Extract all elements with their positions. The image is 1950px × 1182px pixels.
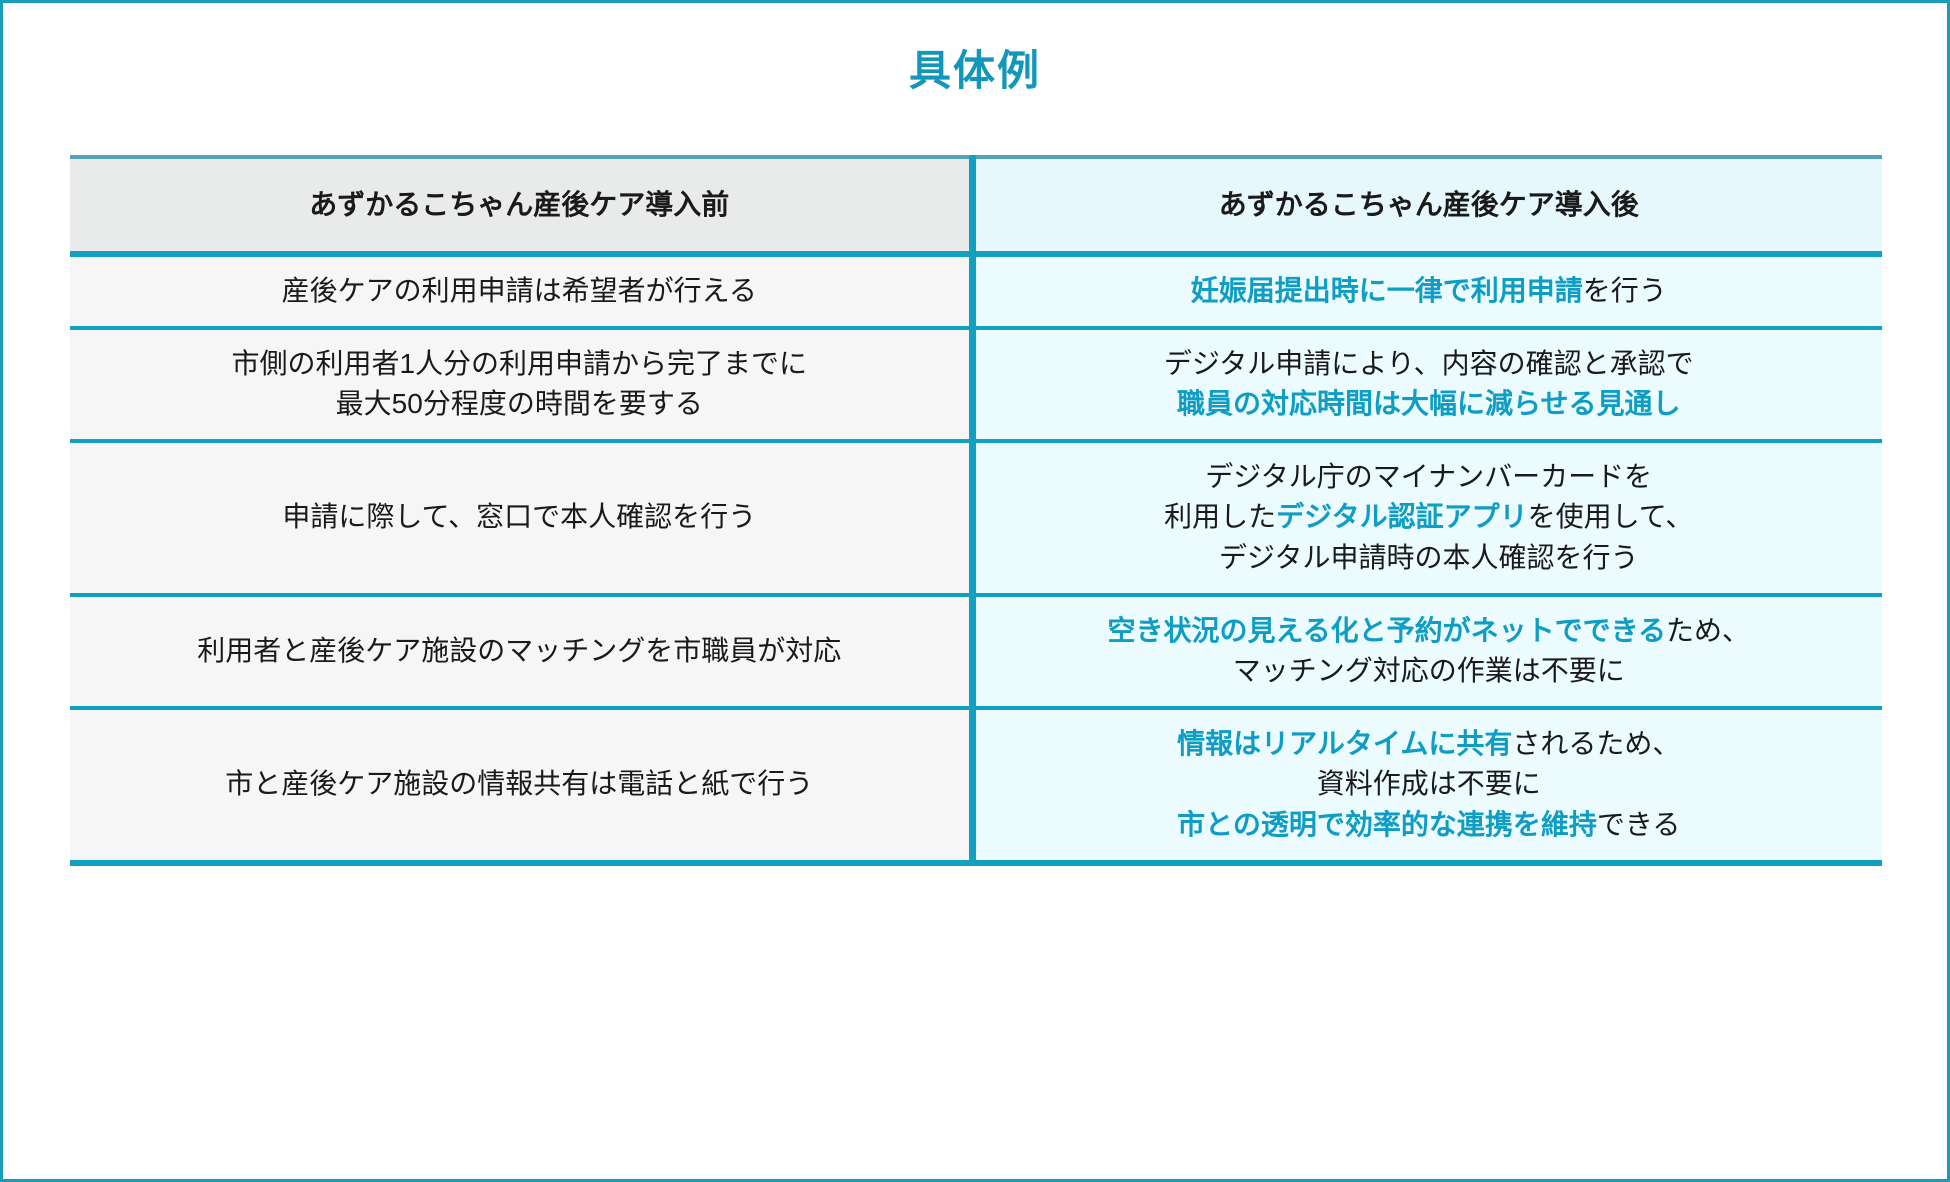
- table-row: 市と産後ケア施設の情報共有は電話と紙で行う情報はリアルタイムに共有されるため、資…: [70, 708, 1882, 863]
- plain-text: されるため、: [1512, 728, 1680, 759]
- cell-after: 空き状況の見える化と予約がネットでできるため、マッチング対応の作業は不要に: [972, 595, 1882, 708]
- highlighted-text: 職員の対応時間は大幅に減らせる見通し: [1177, 388, 1680, 419]
- plain-text: ため、: [1666, 615, 1750, 646]
- slide-border-top: [0, 0, 1950, 3]
- cell-after: 妊娠届提出時に一律で利用申請を行う: [972, 254, 1882, 328]
- plain-text: デジタル申請により、内容の確認と承認で: [1164, 348, 1694, 379]
- cell-line: 資料作成は不要に: [994, 764, 1865, 805]
- cell-line: 空き状況の見える化と予約がネットでできるため、: [994, 611, 1865, 652]
- cell-line: 市と産後ケア施設の情報共有は電話と紙で行う: [88, 764, 951, 805]
- plain-text: を行う: [1583, 275, 1667, 306]
- plain-text: デジタル庁のマイナンバーカードを: [1205, 461, 1652, 492]
- cell-before: 市と産後ケア施設の情報共有は電話と紙で行う: [70, 708, 972, 863]
- page-title: 具体例: [0, 48, 1950, 94]
- plain-text: できる: [1597, 809, 1680, 840]
- table-header-row: あずかるこちゃん産後ケア導入前 あずかるこちゃん産後ケア導入後: [70, 157, 1882, 254]
- cell-line: 市側の利用者1人分の利用申請から完了までに: [88, 344, 951, 385]
- cell-before: 産後ケアの利用申請は希望者が行える: [70, 254, 972, 328]
- highlighted-text: 情報はリアルタイムに共有: [1177, 728, 1512, 759]
- slide-border-left: [0, 0, 3, 1182]
- cell-line: 産後ケアの利用申請は希望者が行える: [88, 271, 951, 312]
- cell-line: 最大50分程度の時間を要する: [88, 384, 951, 425]
- highlighted-text: デジタル認証アプリ: [1276, 501, 1527, 532]
- table-header: あずかるこちゃん産後ケア導入前 あずかるこちゃん産後ケア導入後: [70, 157, 1882, 254]
- cell-line: 市との透明で効率的な連携を維持できる: [994, 805, 1865, 846]
- comparison-table: あずかるこちゃん産後ケア導入前 あずかるこちゃん産後ケア導入後 産後ケアの利用申…: [70, 155, 1882, 866]
- cell-line: デジタル申請時の本人確認を行う: [994, 538, 1865, 579]
- cell-line: デジタル申請により、内容の確認と承認で: [994, 344, 1865, 385]
- cell-line: 申請に際して、窓口で本人確認を行う: [88, 497, 951, 538]
- table-row: 申請に際して、窓口で本人確認を行うデジタル庁のマイナンバーカードを利用したデジタ…: [70, 441, 1882, 595]
- highlighted-text: 妊娠届提出時に一律で利用申請: [1191, 275, 1583, 306]
- table-row: 市側の利用者1人分の利用申請から完了までに最大50分程度の時間を要するデジタル申…: [70, 328, 1882, 441]
- comparison-table-container: あずかるこちゃん産後ケア導入前 あずかるこちゃん産後ケア導入後 産後ケアの利用申…: [70, 155, 1882, 866]
- column-header-after: あずかるこちゃん産後ケア導入後: [972, 157, 1882, 254]
- cell-before: 市側の利用者1人分の利用申請から完了までに最大50分程度の時間を要する: [70, 328, 972, 441]
- plain-text: 資料作成は不要に: [1317, 768, 1541, 799]
- highlighted-text: 空き状況の見える化と予約がネットでできる: [1107, 615, 1666, 646]
- cell-before: 利用者と産後ケア施設のマッチングを市職員が対応: [70, 595, 972, 708]
- cell-line: 情報はリアルタイムに共有されるため、: [994, 724, 1865, 765]
- column-header-before: あずかるこちゃん産後ケア導入前: [70, 157, 972, 254]
- cell-before: 申請に際して、窓口で本人確認を行う: [70, 441, 972, 595]
- cell-line: デジタル庁のマイナンバーカードを: [994, 457, 1865, 498]
- cell-after: 情報はリアルタイムに共有されるため、資料作成は不要に市との透明で効率的な連携を維…: [972, 708, 1882, 863]
- plain-text: を使用して、: [1528, 501, 1694, 532]
- table-row: 利用者と産後ケア施設のマッチングを市職員が対応空き状況の見える化と予約がネットで…: [70, 595, 1882, 708]
- highlighted-text: 市との透明で効率的な連携を維持: [1177, 809, 1597, 840]
- plain-text: マッチング対応の作業は不要に: [1233, 655, 1625, 686]
- cell-after: デジタル申請により、内容の確認と承認で職員の対応時間は大幅に減らせる見通し: [972, 328, 1882, 441]
- cell-line: 職員の対応時間は大幅に減らせる見通し: [994, 384, 1865, 425]
- cell-line: マッチング対応の作業は不要に: [994, 651, 1865, 692]
- cell-line: 利用したデジタル認証アプリを使用して、: [994, 497, 1865, 538]
- cell-line: 妊娠届提出時に一律で利用申請を行う: [994, 271, 1865, 312]
- cell-after: デジタル庁のマイナンバーカードを利用したデジタル認証アプリを使用して、デジタル申…: [972, 441, 1882, 595]
- slide-canvas: 具体例 あずかるこちゃん産後ケア導入前 あずかるこちゃん産後ケア導入後 産後ケア…: [0, 0, 1950, 1182]
- plain-text: 利用した: [1164, 501, 1276, 532]
- table-body: 産後ケアの利用申請は希望者が行える妊娠届提出時に一律で利用申請を行う市側の利用者…: [70, 254, 1882, 863]
- plain-text: デジタル申請時の本人確認を行う: [1219, 542, 1638, 573]
- cell-line: 利用者と産後ケア施設のマッチングを市職員が対応: [88, 631, 951, 672]
- table-row: 産後ケアの利用申請は希望者が行える妊娠届提出時に一律で利用申請を行う: [70, 254, 1882, 328]
